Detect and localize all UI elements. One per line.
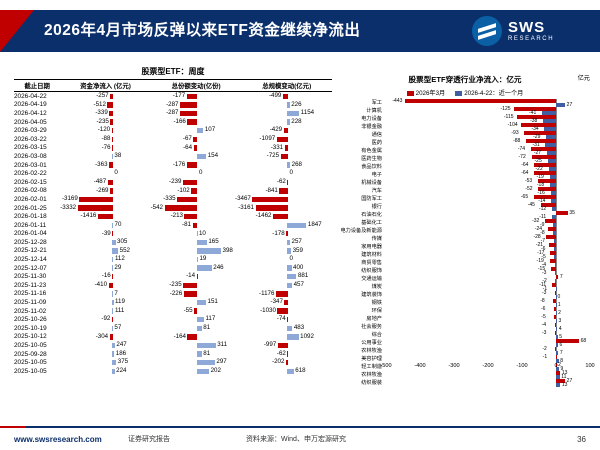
cell-flow: -512 — [60, 101, 151, 110]
chart-x-tick: -500 — [380, 363, 391, 369]
bar-scale — [287, 326, 292, 331]
bar-share — [197, 240, 207, 245]
chart-category-label: 电力设备 — [340, 115, 384, 123]
value-flow: 186 — [116, 350, 126, 359]
cell-date: 2025-10-05 — [14, 341, 60, 350]
cell-scale: 228 — [241, 118, 332, 127]
value-flow: -39 — [102, 230, 111, 239]
bar-share — [197, 300, 206, 305]
value-flow: 305 — [117, 238, 127, 247]
bar-share — [197, 274, 198, 279]
chart-unit-label: 亿元 — [578, 73, 590, 82]
bar-share — [197, 326, 202, 331]
value-share: 0 — [199, 169, 202, 178]
cell-share: -226 — [151, 290, 242, 299]
chart-category-label: 农林牧渔 — [340, 371, 384, 379]
table-row: 2025-11-167-226-1176 — [14, 290, 332, 299]
bar-scale — [287, 334, 298, 339]
cell-flow: 29 — [60, 264, 151, 273]
value-scale: 257 — [292, 238, 302, 247]
bar-scale — [286, 231, 288, 236]
cell-flow: 305 — [60, 238, 151, 247]
bar-flow — [112, 326, 113, 331]
chart-bar-blue — [556, 383, 560, 386]
cell-share: 202 — [151, 367, 242, 376]
bar-scale — [284, 128, 288, 133]
bar-flow — [112, 128, 113, 133]
cell-date: 2025-12-28 — [14, 238, 60, 247]
table-row: 2026-03-15-76-64-331 — [14, 144, 332, 153]
etf-table-title: 股票型ETF：周度 — [14, 66, 332, 77]
chart-bar-value: 27 — [567, 379, 573, 384]
value-flow: 70 — [115, 221, 122, 230]
bar-flow — [110, 334, 113, 339]
chart-x-tick: 100 — [585, 363, 594, 369]
cell-flow: -339 — [60, 109, 151, 118]
bar-flow — [112, 223, 113, 228]
cell-scale: 881 — [241, 272, 332, 281]
cell-scale: 268 — [241, 161, 332, 170]
cell-flow: 7 — [60, 290, 151, 299]
cell-scale: -997 — [241, 341, 332, 350]
cell-date: 2025-12-21 — [14, 247, 60, 256]
value-share: 19 — [199, 255, 206, 264]
etf-weekly-table: 截止日期 资金净流入 (亿元) 总份额变动(亿份) 总规模变动(亿元) 2026… — [14, 79, 332, 376]
chart-bar-value: -45 — [528, 203, 535, 208]
etf-weekly-table-panel: 股票型ETF：周度 截止日期 资金净流入 (亿元) 总份额变动(亿份) 总规模变… — [14, 66, 332, 376]
chart-bar-value: -3 — [542, 291, 546, 296]
value-flow: -363 — [95, 161, 107, 170]
bar-share — [197, 317, 204, 322]
cell-scale: 1154 — [241, 109, 332, 118]
table-row: 2025-09-2818681-62 — [14, 350, 332, 359]
value-scale: 400 — [293, 264, 303, 273]
cell-share: 81 — [151, 350, 242, 359]
bar-scale — [287, 248, 291, 253]
value-share: 151 — [208, 298, 218, 307]
value-scale: 618 — [295, 367, 305, 376]
cell-flow: -76 — [60, 144, 151, 153]
chart-area: 军工计算机电力设备非银金融通信医药有色金属医药生物食品饮料电子机械设备汽车国防军… — [340, 99, 590, 387]
chart-plot: -44327-125-41-115-38-104-34-93-29-88-31-… — [386, 99, 590, 387]
value-scale: 457 — [294, 281, 304, 290]
bar-share — [184, 214, 197, 219]
table-row: 2025-10-05224202618 — [14, 367, 332, 376]
bar-share — [183, 180, 198, 185]
chart-category-label: 纺织服饰 — [340, 267, 384, 275]
bar-flow — [112, 137, 113, 142]
cell-share: -235 — [151, 281, 242, 290]
chart-category-label: 建筑装饰 — [340, 291, 384, 299]
bar-flow — [109, 162, 113, 167]
value-share: -176 — [173, 161, 185, 170]
cell-date: 2026-01-11 — [14, 221, 60, 230]
bar-flow — [112, 257, 113, 262]
chart-bar-value: -72 — [519, 155, 526, 160]
cell-scale: -178 — [241, 230, 332, 239]
value-scale: -1097 — [259, 135, 275, 144]
bar-share — [177, 197, 197, 202]
chart-category-labels: 军工计算机电力设备非银金融通信医药有色金属医药生物食品饮料电子机械设备汽车国防军… — [340, 99, 384, 387]
chart-category-label: 轻工制造 — [340, 363, 384, 371]
value-share: -64 — [183, 144, 192, 153]
table-row: 2025-12-28305165257 — [14, 238, 332, 247]
value-flow: -88 — [101, 135, 110, 144]
bar-flow — [98, 214, 113, 219]
cell-date: 2026-03-08 — [14, 152, 60, 161]
bar-scale — [287, 119, 289, 124]
bar-share — [197, 369, 209, 374]
table-row: 2026-04-22-257-177-499 — [14, 92, 332, 101]
cell-flow: -39 — [60, 230, 151, 239]
chart-bar-value: -115 — [504, 115, 514, 120]
bar-share — [197, 128, 203, 133]
value-share: -81 — [182, 221, 191, 230]
cell-date: 2026-02-15 — [14, 178, 60, 187]
cell-scale: -1176 — [241, 290, 332, 299]
cell-flow: -257 — [60, 92, 151, 101]
footer-source: 资料来源：Wind、申万宏源研究 — [246, 434, 346, 444]
bar-scale — [287, 223, 306, 228]
table-row: 2025-10-05247311-997 — [14, 341, 332, 350]
cell-date: 2026-02-22 — [14, 169, 60, 178]
bar-scale — [287, 351, 288, 356]
legend-swatch-red-icon — [407, 91, 414, 96]
chart-bar-red — [556, 275, 558, 278]
value-flow: -304 — [96, 333, 108, 342]
value-flow: -120 — [98, 126, 110, 135]
bar-flow — [112, 300, 113, 305]
value-flow: -410 — [95, 281, 107, 290]
chart-x-tick: -400 — [414, 363, 425, 369]
bar-flow — [78, 205, 113, 210]
chart-bar-value: -88 — [513, 139, 520, 144]
bar-scale — [286, 360, 288, 365]
bar-share — [194, 145, 198, 150]
logo-mark-icon — [472, 16, 502, 46]
bar-flow — [112, 154, 113, 159]
value-flow: -3332 — [60, 204, 76, 213]
value-scale: 226 — [291, 101, 301, 110]
cell-scale: -331 — [241, 144, 332, 153]
value-share: -542 — [151, 204, 163, 213]
value-share: 117 — [205, 315, 215, 324]
chart-bar-value: -125 — [501, 107, 511, 112]
cell-scale: 257 — [241, 238, 332, 247]
bar-flow — [112, 274, 113, 279]
value-flow: -339 — [95, 109, 107, 118]
bar-share — [197, 265, 212, 270]
value-flow: 247 — [116, 341, 126, 350]
cell-date: 2026-03-15 — [14, 144, 60, 153]
cell-share: -64 — [151, 144, 242, 153]
cell-date: 2025-12-14 — [14, 255, 60, 264]
value-share: -335 — [163, 195, 175, 204]
cell-date: 2026-01-18 — [14, 212, 60, 221]
cell-flow: -88 — [60, 135, 151, 144]
cell-flow: 375 — [60, 358, 151, 367]
chart-bar-value: -32 — [532, 219, 539, 224]
cell-flow: -487 — [60, 178, 151, 187]
cell-scale: 457 — [241, 281, 332, 290]
value-scale: -331 — [271, 144, 283, 153]
value-share: -239 — [169, 178, 181, 187]
chart-bar-value: -4 — [542, 323, 546, 328]
bar-share — [193, 137, 197, 142]
chart-bar-value: -1 — [543, 355, 547, 360]
table-row: 2026-03-22-88-67-1097 — [14, 135, 332, 144]
cell-share: -164 — [151, 333, 242, 342]
value-share: 311 — [217, 341, 227, 350]
table-row: 2025-12-14112190 — [14, 255, 332, 264]
table-row: 2025-11-02111-55-1030 — [14, 307, 332, 316]
chart-category-label: 综合 — [340, 331, 384, 339]
table-row: 2025-11-30-16-14881 — [14, 272, 332, 281]
chart-category-label: 环保 — [340, 307, 384, 315]
cell-date: 2025-11-23 — [14, 281, 60, 290]
cell-scale: -3161 — [241, 204, 332, 213]
bar-share — [191, 188, 197, 193]
cell-date: 2025-11-16 — [14, 290, 60, 299]
value-scale: -1030 — [260, 307, 276, 316]
chart-category-label: 农林牧渔 — [340, 347, 384, 355]
chart-bar-value: -104 — [508, 123, 518, 128]
bar-scale — [281, 154, 288, 159]
bar-flow — [112, 369, 114, 374]
value-scale: 0 — [290, 255, 293, 264]
cell-date: 2026-01-04 — [14, 230, 60, 239]
cell-share: 81 — [151, 324, 242, 333]
chart-bar-value: -93 — [511, 131, 518, 136]
value-share: 10 — [199, 230, 206, 239]
table-row: 2025-10-05375297-202 — [14, 358, 332, 367]
chart-bar-value: -443 — [392, 99, 402, 104]
cell-scale: 226 — [241, 101, 332, 110]
bar-share — [193, 223, 198, 228]
cell-flow: -3169 — [60, 195, 151, 204]
cell-flow: -120 — [60, 126, 151, 135]
value-flow: 29 — [114, 264, 121, 273]
cell-flow: 38 — [60, 152, 151, 161]
cell-share: -67 — [151, 135, 242, 144]
bar-flow — [112, 343, 115, 348]
table-row: 2025-11-23-410-235457 — [14, 281, 332, 290]
value-flow: -1416 — [81, 212, 97, 221]
chart-bar-value: -8 — [540, 299, 544, 304]
bar-flow — [112, 231, 113, 236]
chart-category-label: 医药 — [340, 139, 384, 147]
value-flow: 0 — [114, 169, 117, 178]
bar-flow — [110, 188, 113, 193]
cell-scale: -429 — [241, 126, 332, 135]
footer-page-number: 36 — [577, 435, 586, 444]
bar-share — [194, 308, 197, 313]
bar-scale — [256, 205, 289, 210]
cell-date: 2026-01-25 — [14, 204, 60, 213]
cell-flow: -92 — [60, 315, 151, 324]
bar-scale — [287, 265, 291, 270]
value-scale: -3467 — [235, 195, 251, 204]
table-row: 2026-03-01-363-176268 — [14, 161, 332, 170]
value-share: -166 — [173, 118, 185, 127]
chart-category-label: 汽车 — [340, 187, 384, 195]
bar-flow — [110, 119, 112, 124]
chart-bar-value: -64 — [521, 171, 528, 176]
value-scale: 1092 — [300, 333, 314, 342]
cell-scale: 1847 — [241, 221, 332, 230]
cell-share: -81 — [151, 221, 242, 230]
bar-scale — [285, 145, 288, 150]
bar-share — [197, 231, 198, 236]
value-flow: -3169 — [62, 195, 78, 204]
value-scale: 1154 — [301, 109, 314, 118]
chart-x-tick: -300 — [448, 363, 459, 369]
value-share: 202 — [211, 367, 221, 376]
cell-flow: 111 — [60, 307, 151, 316]
value-scale: -997 — [264, 341, 276, 350]
cell-share: -335 — [151, 195, 242, 204]
cell-date: 2025-11-02 — [14, 307, 60, 316]
chart-category-label: 电子 — [340, 171, 384, 179]
cell-share: -102 — [151, 187, 242, 196]
chart-category-label: 石油石化 — [340, 211, 384, 219]
cell-scale: 1092 — [241, 333, 332, 342]
value-share: 81 — [203, 350, 210, 359]
col-scale: 总规模变动(亿元) — [241, 80, 332, 92]
table-row: 2026-04-19-512-287226 — [14, 101, 332, 110]
cell-date: 2026-04-19 — [14, 101, 60, 110]
bar-share — [180, 102, 197, 107]
table-row: 2026-02-15-487-239-62 — [14, 178, 332, 187]
value-share: -235 — [169, 281, 181, 290]
bar-share — [180, 111, 197, 116]
value-flow: 552 — [120, 247, 130, 256]
value-share: 107 — [205, 126, 215, 135]
table-row: 2025-12-21552398359 — [14, 247, 332, 256]
chart-category-label: 银行 — [340, 203, 384, 211]
bar-scale — [273, 214, 288, 219]
value-scale: -178 — [272, 230, 284, 239]
chart-title: 股票型ETF穿透行业净流入：亿元 — [340, 74, 590, 85]
value-scale: -62 — [277, 178, 286, 187]
bar-share — [197, 248, 221, 253]
cell-flow: 70 — [60, 221, 151, 230]
cell-flow: 119 — [60, 298, 151, 307]
table-row: 2025-11-09119151-347 — [14, 298, 332, 307]
chart-x-axis: -500-400-300-200-1000100 — [386, 362, 590, 374]
bar-flow — [112, 240, 115, 245]
cell-date: 2025-09-28 — [14, 350, 60, 359]
chart-bar-red — [556, 211, 568, 214]
chart-bar-value: -2 — [542, 347, 546, 352]
bar-flow — [112, 351, 114, 356]
table-row: 2026-04-05-235-166228 — [14, 118, 332, 127]
cell-share: -287 — [151, 101, 242, 110]
bar-flow — [110, 94, 113, 99]
cell-share: 117 — [151, 315, 242, 324]
table-row: 2026-02-22000 — [14, 169, 332, 178]
col-share: 总份额变动(亿份) — [151, 80, 242, 92]
bar-flow — [112, 308, 113, 313]
cell-share: -55 — [151, 307, 242, 316]
value-scale: 483 — [294, 324, 304, 333]
value-flow: 119 — [115, 298, 125, 307]
value-flow: 111 — [115, 307, 124, 316]
cell-share: 0 — [151, 169, 242, 178]
cell-share: -176 — [151, 161, 242, 170]
value-flow: -269 — [96, 187, 108, 196]
bar-flow — [112, 317, 113, 322]
cell-scale: 483 — [241, 324, 332, 333]
cell-scale: 618 — [241, 367, 332, 376]
value-scale: -429 — [270, 126, 282, 135]
bar-share — [187, 94, 198, 99]
value-scale: 228 — [291, 118, 301, 127]
table-row: 2025-12-0729246400 — [14, 264, 332, 273]
chart-category-label: 传媒 — [340, 235, 384, 243]
value-scale: 0 — [290, 169, 293, 178]
bar-flow — [112, 248, 118, 253]
chart-category-label: 房地产 — [340, 315, 384, 323]
brand-logo: SWS RESEARCH — [472, 13, 590, 49]
footer-divider — [0, 426, 600, 428]
value-scale: -62 — [277, 350, 286, 359]
table-header-row: 截止日期 资金净流入 (亿元) 总份额变动(亿份) 总规模变动(亿元) — [14, 80, 332, 92]
cell-flow: 0 — [60, 169, 151, 178]
page-title: 2026年4月市场反弹以来ETF资金继续净流出 — [44, 18, 360, 40]
logo-sub-text: RESEARCH — [508, 36, 554, 42]
value-scale: -499 — [269, 92, 281, 101]
cell-flow: -363 — [60, 161, 151, 170]
chart-row: 2713 — [386, 379, 590, 388]
cell-flow: 247 — [60, 341, 151, 350]
bar-flow — [107, 102, 112, 107]
chart-bar-value: -6 — [541, 307, 545, 312]
cell-date: 2026-03-22 — [14, 135, 60, 144]
legend-label-march: 2026年3月 — [416, 90, 446, 97]
chart-category-label: 基础化工 — [340, 219, 384, 227]
value-flow: -257 — [96, 92, 108, 101]
cell-flow: 112 — [60, 255, 151, 264]
legend-item-month: 2026-4-22：近一个月 — [455, 88, 523, 97]
bar-share — [165, 205, 198, 210]
chart-category-label: 有色金属 — [340, 147, 384, 155]
cell-date: 2026-02-08 — [14, 187, 60, 196]
legend-swatch-blue-icon — [455, 91, 462, 96]
cell-flow: -16 — [60, 272, 151, 281]
bar-flow — [112, 360, 116, 365]
bar-scale — [287, 274, 296, 279]
chart-bar-value: -53 — [525, 179, 532, 184]
chart-category-label: 非银金融 — [340, 123, 384, 131]
chart-category-label: 电力设备及新能源 — [340, 227, 384, 235]
cell-date: 2025-12-07 — [14, 264, 60, 273]
logo-main-text: SWS — [508, 20, 554, 36]
value-flow: 112 — [115, 255, 125, 264]
value-share: 81 — [203, 324, 210, 333]
chart-category-label: 计算机 — [340, 107, 384, 115]
chart-bar-value: 13 — [562, 383, 568, 388]
cell-date: 2025-10-05 — [14, 367, 60, 376]
value-flow: 38 — [114, 152, 121, 161]
cell-scale: -62 — [241, 350, 332, 359]
cell-date: 2025-10-26 — [14, 315, 60, 324]
table-row: 2026-04-12-339-2871154 — [14, 109, 332, 118]
cell-flow: 186 — [60, 350, 151, 359]
col-flow: 资金净流入 (亿元) — [60, 80, 151, 92]
bar-scale — [287, 240, 290, 245]
cell-date: 2026-04-05 — [14, 118, 60, 127]
